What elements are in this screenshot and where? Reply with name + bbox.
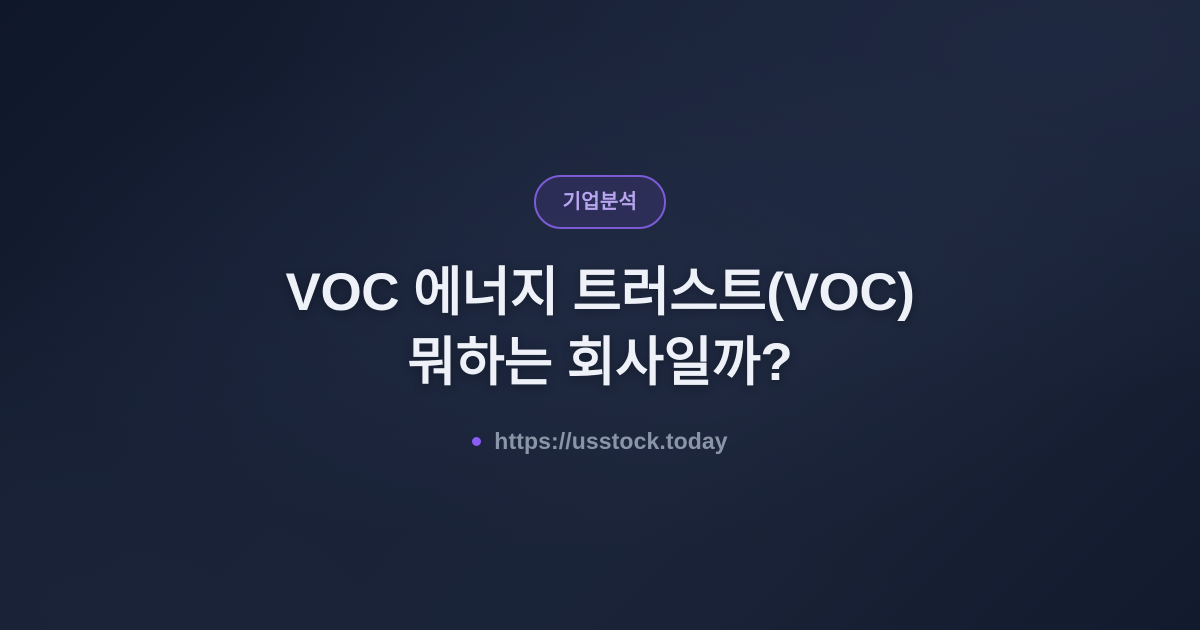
- page-title-line-1: VOC 에너지 트러스트(VOC): [286, 258, 915, 328]
- og-share-card: 기업분석 VOC 에너지 트러스트(VOC) 뭐하는 회사일까? https:/…: [0, 0, 1200, 630]
- page-title-line-2: 뭐하는 회사일까?: [286, 328, 915, 398]
- card-content: 기업분석 VOC 에너지 트러스트(VOC) 뭐하는 회사일까? https:/…: [80, 175, 1120, 456]
- category-badge: 기업분석: [534, 175, 666, 229]
- site-url: https://usstock.today: [472, 428, 727, 455]
- bullet-icon: [472, 437, 481, 446]
- site-url-text: https://usstock.today: [494, 428, 727, 455]
- page-title: VOC 에너지 트러스트(VOC) 뭐하는 회사일까?: [286, 258, 915, 399]
